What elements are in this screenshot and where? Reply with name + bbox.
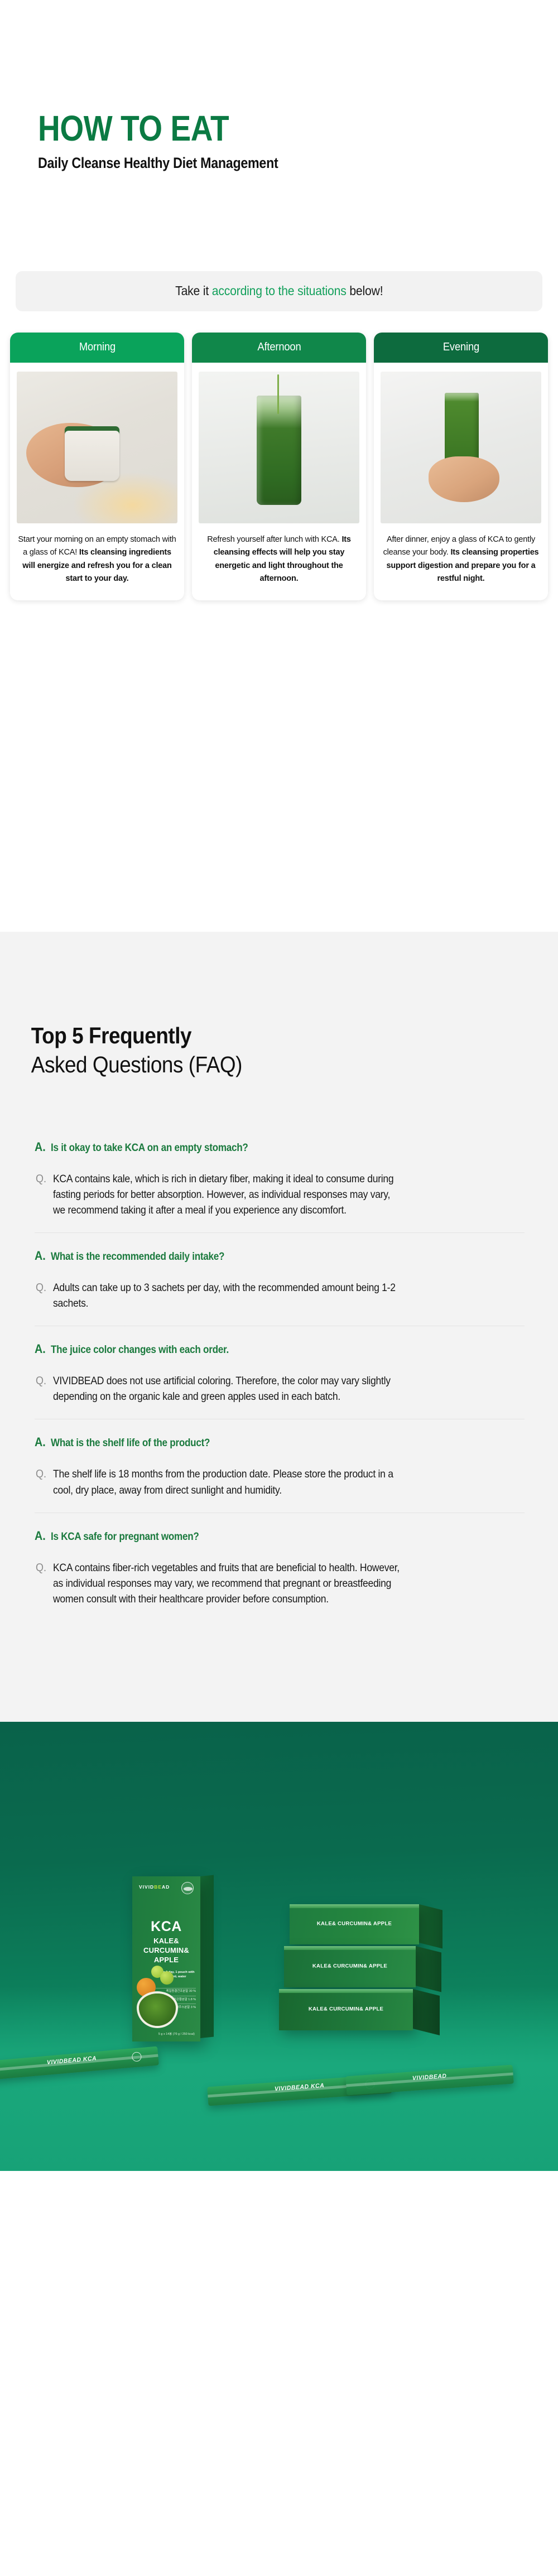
front-box-name: KALE& CURCUMIN& APPLE	[132, 1937, 200, 1965]
page-root: HOW TO EAT Daily Cleanse Healthy Diet Ma…	[0, 0, 558, 2576]
product-photo-section: KALE& CURCUMIN& APPLE KALE& CURCUMIN& AP…	[0, 1722, 558, 2171]
card-label-afternoon: Afternoon	[257, 341, 301, 354]
afternoon-text-normal: Refresh yourself after lunch with KCA.	[207, 535, 339, 544]
stick-code: KCA	[83, 2055, 97, 2063]
stack-box-1-side	[419, 1904, 442, 1948]
faq-question-row[interactable]: A. What is the recommended daily intake?	[35, 1250, 525, 1263]
faq-question-marker: A.	[35, 1530, 46, 1542]
front-box-brand: VIVIDBEAD	[139, 1884, 170, 1890]
faq-question-row[interactable]: A. The juice color changes with each ord…	[35, 1343, 525, 1356]
faq-answer-text: KCA contains fiber-rich vegetables and f…	[53, 1560, 400, 1607]
stack-box-1-top-edge	[290, 1904, 419, 1908]
card-label-morning: Morning	[79, 341, 115, 354]
page-title: HOW TO EAT	[38, 112, 485, 146]
faq-answer-marker: Q.	[36, 1171, 46, 1218]
faq-title-line2: Asked Questions (FAQ)	[31, 1050, 502, 1079]
faq-question-text: What is the recommended daily intake?	[51, 1251, 224, 1263]
card-header-evening: Evening	[374, 333, 548, 363]
faq-answer-marker: Q.	[36, 1280, 46, 1311]
faq-answer-row: Q. VIVIDBEAD does not use artificial col…	[35, 1373, 525, 1404]
card-text-evening: After dinner, enjoy a glass of KCA to ge…	[374, 533, 548, 586]
timing-card-morning[interactable]: Morning Start your morning on an empty s…	[10, 333, 184, 600]
stack-box-2: KALE& CURCUMIN& APPLE	[284, 1946, 416, 1987]
faq-section: Top 5 Frequently Asked Questions (FAQ) A…	[0, 932, 558, 1722]
haccp-seal-icon	[181, 1882, 194, 1894]
banner-highlight: according to the situations	[211, 283, 346, 298]
faq-title-line1: Top 5 Frequently	[31, 1021, 502, 1050]
faq-question-text: Is it okay to take KCA on an empty stoma…	[51, 1142, 248, 1154]
faq-list: A. Is it okay to take KCA on an empty st…	[0, 1141, 558, 1621]
faq-answer-marker: Q.	[36, 1466, 46, 1498]
card-header-morning: Morning	[10, 333, 184, 363]
faq-answer-row: Q. KCA contains fiber-rich vegetables an…	[35, 1560, 525, 1607]
stack-box-2-side	[416, 1946, 441, 1992]
faq-item[interactable]: A. What is the shelf life of the product…	[35, 1436, 525, 1513]
stick-brand: VIVIDBEAD	[412, 2073, 446, 2082]
timing-card-afternoon[interactable]: Afternoon Refresh yourself after lunch w…	[192, 333, 366, 600]
brand-part1: VIVID	[139, 1884, 154, 1890]
stack-box-3-side	[413, 1989, 440, 2035]
instruction-banner-text: Take it according to the situations belo…	[175, 283, 383, 298]
morning-photo	[17, 372, 177, 523]
title-block: HOW TO EAT Daily Cleanse Healthy Diet Ma…	[0, 112, 558, 172]
faq-answer-text: KCA contains kale, which is rich in diet…	[53, 1171, 400, 1218]
faq-question-row[interactable]: A. Is it okay to take KCA on an empty st…	[35, 1141, 525, 1154]
faq-answer-marker: Q.	[36, 1560, 46, 1607]
stick-brand: VIVIDBEAD	[47, 2056, 81, 2065]
page-subtitle: Daily Cleanse Healthy Diet Management	[38, 155, 485, 172]
front-product-box: VIVIDBEAD KCA KALE& CURCUMIN& APPLE Take…	[132, 1876, 200, 2041]
stick-code: KCA	[311, 2082, 325, 2090]
brand-part2: BE	[154, 1884, 162, 1890]
stack-box-3-label: KALE& CURCUMIN& APPLE	[279, 2006, 413, 2013]
banner-suffix: below!	[346, 283, 383, 298]
faq-question-marker: A.	[35, 1436, 46, 1448]
timing-cards: Morning Start your morning on an empty s…	[0, 333, 558, 600]
faq-answer-text: The shelf life is 18 months from the pro…	[53, 1466, 400, 1498]
faq-title: Top 5 Frequently Asked Questions (FAQ)	[0, 1021, 502, 1080]
kale-bowl-icon	[139, 1994, 176, 2026]
front-box-net-weight: 5 g x 14봉 (70 g / 250 kcal)	[158, 2032, 195, 2036]
faq-item[interactable]: A. Is it okay to take KCA on an empty st…	[35, 1141, 525, 1233]
afternoon-photo	[199, 372, 359, 523]
faq-item[interactable]: A. Is KCA safe for pregnant women? Q. KC…	[35, 1530, 525, 1621]
stack-box-3-top-edge	[279, 1989, 413, 1993]
green-apple-icon	[160, 1971, 174, 1985]
faq-answer-text: VIVIDBEAD does not use artificial colori…	[53, 1373, 400, 1404]
faq-question-text: The juice color changes with each order.	[51, 1344, 229, 1356]
faq-item[interactable]: A. What is the recommended daily intake?…	[35, 1250, 525, 1326]
stick-brand: VIVIDBEAD	[275, 2083, 309, 2092]
faq-question-text: What is the shelf life of the product?	[51, 1437, 210, 1450]
faq-answer-row: Q. The shelf life is 18 months from the …	[35, 1466, 525, 1498]
faq-answer-row: Q. KCA contains kale, which is rich in d…	[35, 1171, 525, 1218]
stack-box-2-top-edge	[284, 1946, 416, 1950]
faq-answer-marker: Q.	[36, 1373, 46, 1404]
front-box-code: KCA	[132, 1919, 200, 1935]
stack-box-1-label: KALE& CURCUMIN& APPLE	[290, 1920, 419, 1928]
how-to-eat-section: HOW TO EAT Daily Cleanse Healthy Diet Ma…	[0, 0, 558, 932]
front-box-food-illustration	[134, 1962, 181, 2029]
instruction-banner: Take it according to the situations belo…	[16, 271, 542, 311]
faq-question-row[interactable]: A. What is the shelf life of the product…	[35, 1436, 525, 1450]
timing-card-evening[interactable]: Evening After dinner, enjoy a glass of K…	[374, 333, 548, 600]
banner-prefix: Take it	[175, 283, 212, 298]
evening-photo	[381, 372, 541, 523]
front-box-side	[200, 1875, 214, 2038]
card-header-afternoon: Afternoon	[192, 333, 366, 363]
brand-part3: AD	[162, 1884, 170, 1890]
card-text-afternoon: Refresh yourself after lunch with KCA. I…	[192, 533, 366, 586]
faq-question-marker: A.	[35, 1141, 46, 1153]
faq-question-text: Is KCA safe for pregnant women?	[51, 1531, 199, 1543]
faq-item[interactable]: A. The juice color changes with each ord…	[35, 1343, 525, 1419]
stick-haccp-seal-icon	[132, 2052, 142, 2062]
faq-question-marker: A.	[35, 1250, 46, 1262]
card-label-evening: Evening	[442, 341, 479, 354]
stack-box-1: KALE& CURCUMIN& APPLE	[290, 1904, 419, 1944]
faq-answer-row: Q. Adults can take up to 3 sachets per d…	[35, 1280, 525, 1311]
faq-question-marker: A.	[35, 1343, 46, 1355]
stack-box-2-label: KALE& CURCUMIN& APPLE	[284, 1963, 416, 1970]
stack-box-3: KALE& CURCUMIN& APPLE	[279, 1989, 413, 2030]
faq-question-row[interactable]: A. Is KCA safe for pregnant women?	[35, 1530, 525, 1543]
card-text-morning: Start your morning on an empty stomach w…	[10, 533, 184, 586]
faq-answer-text: Adults can take up to 3 sachets per day,…	[53, 1280, 400, 1311]
